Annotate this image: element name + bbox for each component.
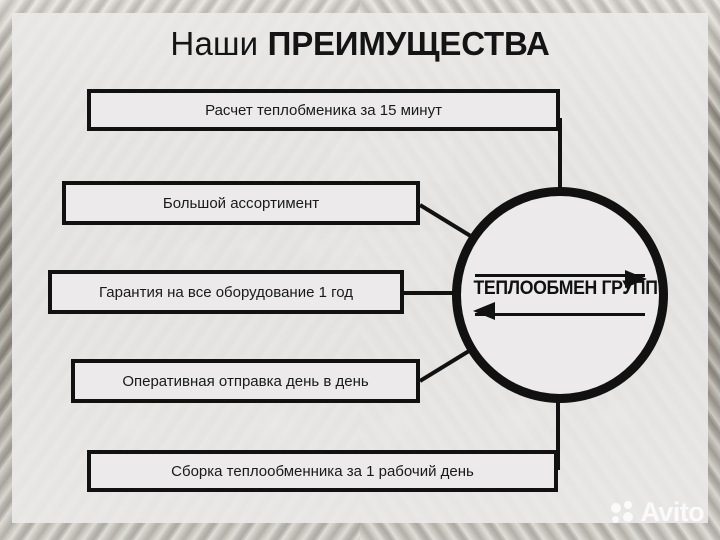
company-logo-circle[interactable]: ТЕПЛООБМЕН ГРУПП: [452, 187, 668, 403]
benefit-label-3: Гарантия на все оборудование 1 год: [99, 284, 353, 301]
benefit-label-5: Сборка теплообменника за 1 рабочий день: [171, 463, 474, 480]
benefit-label-2: Большой ассортимент: [163, 195, 319, 212]
logo-mark: ТЕПЛООБМЕН ГРУПП: [467, 264, 653, 326]
benefit-label-1: Расчет теплобменика за 15 минут: [205, 102, 442, 119]
benefit-box-5[interactable]: Сборка теплообменника за 1 рабочий день: [87, 450, 558, 492]
benefit-box-3[interactable]: Гарантия на все оборудование 1 год: [48, 270, 404, 314]
benefit-box-2[interactable]: Большой ассортимент: [62, 181, 420, 225]
benefit-label-4: Оперативная отправка день в день: [122, 373, 368, 390]
benefit-box-4[interactable]: Оперативная отправка день в день: [71, 359, 420, 403]
logo-bottom-bar: [475, 313, 645, 316]
logo-text: ТЕПЛООБМЕН ГРУПП: [474, 278, 647, 300]
slide-canvas: Наши ПРЕИМУЩЕСТВА Расчет теплобменика за…: [0, 0, 720, 540]
benefit-box-1[interactable]: Расчет теплобменика за 15 минут: [87, 89, 560, 131]
arrow-left-icon: [473, 302, 495, 320]
logo-top-bar: [475, 274, 645, 277]
